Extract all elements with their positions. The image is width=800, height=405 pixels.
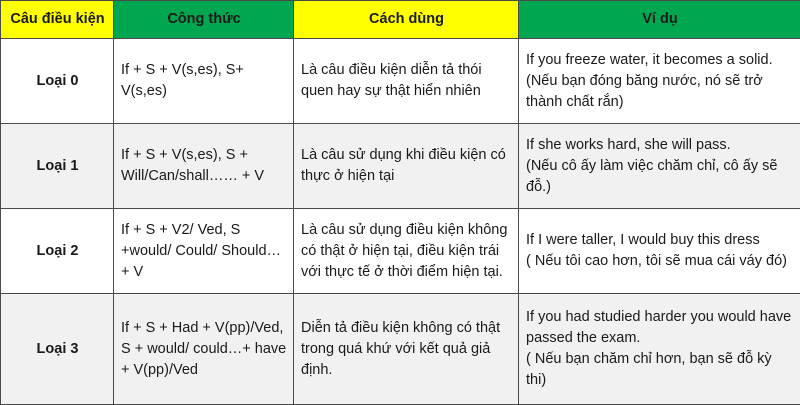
cell-usage: Diễn tả điều kiện không có thật trong qu… xyxy=(294,294,519,405)
column-header-type: Câu điều kiện xyxy=(1,1,114,39)
cell-formula: If + S + Had + V(pp)/Ved, S + would/ cou… xyxy=(114,294,294,405)
cell-formula: If + S + V(s,es), S+ V(s,es) xyxy=(114,39,294,124)
table-header: Câu điều kiện Công thức Cách dùng Ví dụ xyxy=(1,1,800,39)
cell-usage: Là câu điều kiện diễn tả thói quen hay s… xyxy=(294,39,519,124)
table-row: Loại 1 If + S + V(s,es), S + Will/Can/sh… xyxy=(1,124,800,209)
cell-type: Loại 2 xyxy=(1,209,114,294)
cell-example: If I were taller, I would buy this dress… xyxy=(519,209,800,294)
cell-formula: If + S + V(s,es), S + Will/Can/shall…… +… xyxy=(114,124,294,209)
table-row: Loại 3 If + S + Had + V(pp)/Ved, S + wou… xyxy=(1,294,800,405)
cell-usage: Là câu sử dụng điều kiện không có thật ở… xyxy=(294,209,519,294)
cell-example: If you freeze water, it becomes a solid.… xyxy=(519,39,800,124)
cell-type: Loại 1 xyxy=(1,124,114,209)
table-row: Loại 0 If + S + V(s,es), S+ V(s,es) Là c… xyxy=(1,39,800,124)
cell-type: Loại 0 xyxy=(1,39,114,124)
column-header-example: Ví dụ xyxy=(519,1,800,39)
cell-usage: Là câu sử dụng khi điều kiện có thực ở h… xyxy=(294,124,519,209)
cell-example: If you had studied harder you would have… xyxy=(519,294,800,405)
column-header-formula: Công thức xyxy=(114,1,294,39)
conditional-sentences-table-page: IELTS Luyện thi IELTS Câu điều kiện Công… xyxy=(0,0,800,405)
table-header-row: Câu điều kiện Công thức Cách dùng Ví dụ xyxy=(1,1,800,39)
cell-type: Loại 3 xyxy=(1,294,114,405)
table-body: Loại 0 If + S + V(s,es), S+ V(s,es) Là c… xyxy=(1,39,800,405)
table-row: Loại 2 If + S + V2/ Ved, S +would/ Could… xyxy=(1,209,800,294)
conditional-sentences-table: Câu điều kiện Công thức Cách dùng Ví dụ … xyxy=(0,0,800,405)
column-header-usage: Cách dùng xyxy=(294,1,519,39)
cell-example: If she works hard, she will pass.(Nếu cô… xyxy=(519,124,800,209)
cell-formula: If + S + V2/ Ved, S +would/ Could/ Shoul… xyxy=(114,209,294,294)
